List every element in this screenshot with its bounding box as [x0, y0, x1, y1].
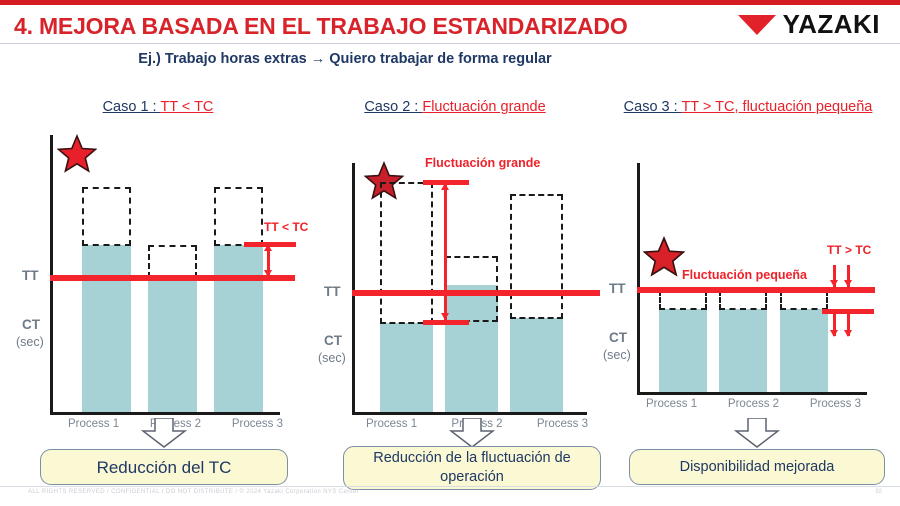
- footer-divider: [0, 486, 900, 487]
- category-label: Process 1: [366, 418, 417, 430]
- dashed-box-process-2: [148, 245, 197, 278]
- star-icon: [57, 134, 97, 174]
- y-axis-ct-unit: (sec): [603, 348, 631, 362]
- bar-process-2: [719, 309, 767, 392]
- chart-title-caso-2: Caso 2 : Fluctuación grande: [310, 98, 600, 117]
- down-arrow-icon-3: [734, 418, 780, 448]
- y-axis-ct-unit: (sec): [318, 351, 346, 365]
- bar-process-1: [82, 245, 131, 412]
- callout-disponibilidad: Disponibilidad mejorada: [629, 449, 885, 485]
- case-highlight: Fluctuación grande: [422, 99, 545, 115]
- bar-process-2: [148, 277, 197, 412]
- category-label: Process 2: [728, 398, 779, 410]
- dashed-box-process-3: [214, 187, 263, 246]
- tt-gt-tc-arrow-head-a: [830, 280, 838, 287]
- x-axis: [637, 392, 867, 395]
- gap-arrow-head-down: [264, 270, 272, 277]
- annotation-fluctuacion-pequena: Fluctuación pequeña: [682, 268, 807, 282]
- top-accent-rule: [0, 0, 900, 5]
- page-title: 4. MEJORA BASADA EN EL TRABAJO ESTANDARI…: [14, 13, 628, 40]
- dashed-box-process-3: [510, 194, 563, 319]
- tt-gt-tc-arrow-head-d: [844, 330, 852, 337]
- case-label: Caso 2 :: [364, 99, 422, 115]
- category-label: Process 3: [810, 398, 861, 410]
- y-axis: [637, 163, 640, 395]
- category-label: Process 3: [537, 418, 588, 430]
- chart-title-caso-3: Caso 3 : TT > TC, fluctuación pequeña: [602, 98, 894, 117]
- bar-process-1: [659, 309, 707, 392]
- tt-reference-line: [50, 275, 295, 281]
- brand-name: YAZAKI: [783, 9, 880, 40]
- chart-panel-caso-2: Caso 2 : Fluctuación grande Fluctuación …: [310, 98, 600, 415]
- footer-legal-text: ALL RIGHTS RESERVED / CONFIDENTIAL / DO …: [28, 489, 359, 495]
- y-axis-ct-label: CT: [609, 330, 627, 345]
- dashed-box-process-2: [719, 290, 767, 310]
- callout-reduccion-tc: Reducción del TC: [40, 449, 288, 485]
- y-axis-tt-label: TT: [324, 284, 341, 299]
- dashed-box-process-3: [780, 290, 828, 310]
- header-divider: [0, 43, 900, 44]
- case-label: Caso 1 :: [103, 99, 161, 115]
- annotation-tt-lt-tc: TT < TC: [264, 220, 308, 234]
- plot-area-caso-1: TT < TC TT CT (sec) Process 1 Process 2 …: [8, 125, 308, 415]
- case-highlight: TT > TC, fluctuación pequeña: [681, 99, 872, 115]
- tt-reference-line: [637, 287, 875, 293]
- slide-subtitle: Ej.) Trabajo horas extras → Quiero traba…: [0, 51, 690, 67]
- plot-area-caso-3: TT > TC Fluctuación pequeña TT CT (sec) …: [602, 125, 894, 393]
- fluctuation-arrow-shaft: [444, 183, 447, 321]
- chart-title-caso-1: Caso 1 : TT < TC: [8, 98, 308, 117]
- category-label: Process 1: [68, 418, 119, 430]
- x-axis: [50, 412, 280, 415]
- y-axis-ct-label: CT: [22, 317, 40, 332]
- bar-process-3: [510, 318, 563, 412]
- fluctuation-arrow-head-down: [441, 313, 449, 320]
- y-axis: [352, 163, 355, 415]
- gap-arrow-head-up: [264, 244, 272, 251]
- tt-gt-tc-arrow-head-b: [844, 280, 852, 287]
- chart-panel-caso-3: Caso 3 : TT > TC, fluctuación pequeña TT…: [602, 98, 894, 393]
- plot-area-caso-2: Fluctuación grande TT CT (sec) Process 1…: [310, 125, 600, 415]
- dashed-box-process-1: [82, 187, 131, 246]
- dashed-box-process-2: [445, 256, 498, 322]
- category-label: Process 1: [646, 398, 697, 410]
- y-axis-tt-label: TT: [22, 268, 39, 283]
- yazaki-triangle-icon: [738, 14, 776, 36]
- y-axis-ct-label: CT: [324, 333, 342, 348]
- category-label: Process 3: [232, 418, 283, 430]
- case-highlight: TT < TC: [160, 99, 213, 115]
- yazaki-logo: YAZAKI: [738, 9, 880, 40]
- x-axis-categories: Process 1 Process 2 Process 3: [646, 398, 861, 410]
- down-arrow-icon-1: [141, 418, 187, 448]
- case-label: Caso 3 :: [624, 99, 682, 115]
- tt-gt-tc-arrow-head-c: [830, 330, 838, 337]
- dashed-box-process-1: [380, 182, 433, 324]
- chart-panel-caso-1: Caso 1 : TT < TC TT < TC TT CT (sec): [8, 98, 308, 415]
- y-axis-tt-label: TT: [609, 281, 626, 296]
- down-arrow-icon-2: [449, 418, 495, 448]
- annotation-fluctuacion-grande: Fluctuación grande: [425, 156, 540, 170]
- dashed-box-process-1: [659, 290, 707, 310]
- y-axis-ct-unit: (sec): [16, 335, 44, 349]
- star-icon: [643, 236, 685, 278]
- bar-process-3: [214, 245, 263, 412]
- tt-reference-line: [352, 290, 600, 296]
- bar-process-3: [780, 309, 828, 392]
- bar-process-1: [380, 323, 433, 412]
- annotation-tt-gt-tc: TT > TC: [827, 243, 871, 257]
- page-number: 92: [875, 489, 882, 495]
- fluctuation-arrow-head-up: [441, 183, 449, 190]
- x-axis: [352, 412, 587, 415]
- callout-reduccion-fluctuacion: Reducción de la fluctuación de operación: [343, 446, 601, 490]
